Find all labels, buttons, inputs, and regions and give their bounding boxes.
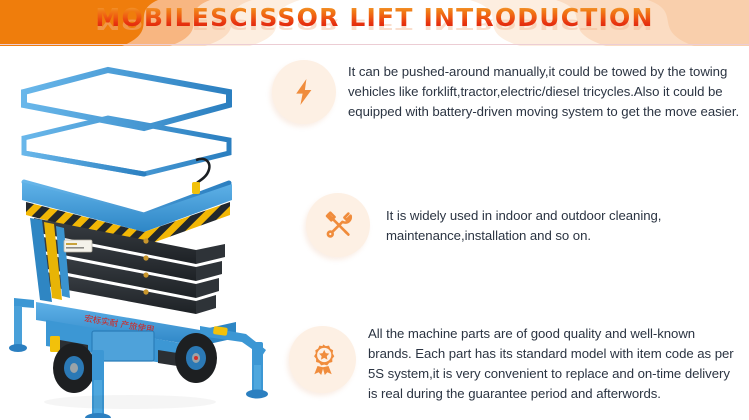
header-banner: MOBILESCISSOR LIFT INTRODUCTION MOBILESC…	[0, 0, 749, 46]
award-badge-star-icon	[289, 326, 356, 393]
mobile-scissor-lift-photo: 宏标实耐 产旅使用	[0, 50, 272, 418]
wheel-front	[175, 333, 217, 383]
wrench-screwdriver-icon	[306, 193, 370, 257]
feature-text-mobility: It can be pushed-around manually,it coul…	[348, 58, 743, 122]
scissor-lift-illustration: 宏标实耐 产旅使用	[0, 50, 272, 418]
award-badge-star-glyph	[306, 343, 340, 377]
page-title: MOBILESCISSOR LIFT INTRODUCTION	[95, 5, 653, 30]
mobile-scissor-lift-introduction-banner: MOBILESCISSOR LIFT INTRODUCTION MOBILESC…	[0, 0, 749, 420]
page-title-container: MOBILESCISSOR LIFT INTRODUCTION	[0, 0, 749, 46]
feature-text-quality: All the machine parts are of good qualit…	[368, 324, 742, 404]
feature-row-applications: It is widely used in indoor and outdoor …	[306, 191, 749, 257]
header-divider-rule	[0, 44, 749, 45]
wheel-rear	[53, 343, 95, 393]
lightning-bolt-icon	[272, 60, 336, 124]
wrench-screwdriver-glyph	[321, 208, 355, 242]
feature-row-mobility: It can be pushed-around manually,it coul…	[272, 58, 749, 124]
lightning-bolt-glyph	[288, 76, 320, 108]
feature-text-applications: It is widely used in indoor and outdoor …	[386, 191, 749, 246]
bumper-tab	[50, 336, 60, 352]
feature-row-quality: All the machine parts are of good qualit…	[289, 324, 749, 404]
